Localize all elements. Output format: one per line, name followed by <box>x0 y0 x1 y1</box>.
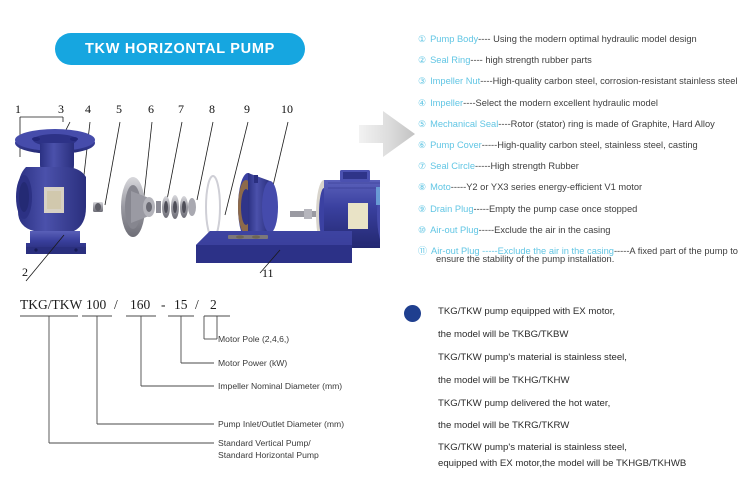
legend-part-name: Impeller Nut <box>430 75 480 87</box>
note-line: TKG/TKW pump delivered the hot water, <box>438 398 610 410</box>
note-line: the model will be TKRG/TKRW <box>438 420 569 432</box>
legend-number: ② <box>418 54 426 66</box>
legend-part-name: Seal Ring <box>430 54 470 66</box>
legend-part-desc: ----Rotor (stator) ring is made of Graph… <box>498 118 714 130</box>
legend-number: ⑤ <box>418 118 426 130</box>
svg-text:/: / <box>195 297 199 312</box>
svg-text:8: 8 <box>209 102 215 116</box>
svg-text:6: 6 <box>148 102 154 116</box>
legend-part-desc: -----Empty the pump case once stopped <box>474 203 638 215</box>
model-label-motor-power: Motor Power (kW) <box>218 358 287 368</box>
note-line: TKG/TKW pump equipped with EX motor, <box>438 306 615 318</box>
legend-item: ① Pump Body ---- Using the modern optima… <box>418 33 754 54</box>
title-banner: TKW HORIZONTAL PUMP <box>55 33 305 65</box>
legend-part-desc: -----Y2 or YX3 series energy-efficient V… <box>451 181 642 193</box>
legend-number: ③ <box>418 75 426 87</box>
svg-text:7: 7 <box>178 102 184 116</box>
legend-number: ① <box>418 33 426 45</box>
svg-text:9: 9 <box>244 102 250 116</box>
svg-text:2: 2 <box>22 265 28 279</box>
legend-number: ⑨ <box>418 203 426 215</box>
svg-text:5: 5 <box>116 102 122 116</box>
model-code-breakdown: TKG/TKW 100 / 160 - 15 / 2 <box>18 296 378 496</box>
legend-item: ② Seal Ring ---- high strength rubber pa… <box>418 54 754 75</box>
note-line: TKG/TKW pump's material is stainless ste… <box>438 442 627 454</box>
legend-part-name: Pump Cover <box>430 139 482 151</box>
svg-text:-: - <box>161 297 166 312</box>
right-arrow-icon <box>357 103 419 165</box>
svg-text:10: 10 <box>281 102 293 116</box>
svg-text:3: 3 <box>58 102 64 116</box>
svg-text:1: 1 <box>15 102 21 116</box>
legend-part-desc: ---- Using the modern optimal hydraulic … <box>478 33 697 45</box>
model-variant-notes: TKG/TKW pump equipped with EX motor, the… <box>396 300 756 490</box>
legend-part-desc: ---- high strength rubber parts <box>470 54 591 66</box>
bullet-dot-icon <box>404 305 421 322</box>
page-root: TKW HORIZONTAL PUMP <box>0 0 756 500</box>
legend-part-name: Moto <box>430 181 451 193</box>
legend-part-name: Seal Circle <box>430 160 475 172</box>
legend-part-name: Mechanical Seal <box>430 118 498 130</box>
legend-part-name: Drain Plug <box>430 203 473 215</box>
model-label-motor-pole: Motor Pole (2,4,6,) <box>218 334 289 344</box>
model-code-prefix: TKG/TKW <box>20 297 82 312</box>
legend-part-desc: -----High strength Rubber <box>475 160 579 172</box>
legend-part-name: Impeller <box>430 97 463 109</box>
model-code-inlet: 100 <box>86 297 107 312</box>
legend-item: ⑦ Seal Circle -----High strength Rubber <box>418 160 754 181</box>
exploded-pump-diagram: 1 3 4 5 6 7 8 9 10 <box>0 95 380 290</box>
legend-number: ⑦ <box>418 160 426 172</box>
note-line: the model will be TKHG/TKHW <box>438 375 570 387</box>
parts-legend: ① Pump Body ---- Using the modern optima… <box>418 33 754 266</box>
legend-item: ⑤ Mechanical Seal ----Rotor (stator) rin… <box>418 118 754 139</box>
legend-part-name: Air-out Plug <box>430 224 479 236</box>
legend-number: ⑥ <box>418 139 426 151</box>
model-code-impeller: 160 <box>130 297 151 312</box>
legend-item: ④ Impeller ----Select the modern excelle… <box>418 97 754 118</box>
note-line: TKG/TKW pump's material is stainless ste… <box>438 352 627 364</box>
legend-number: ⑪ <box>418 245 427 257</box>
legend-item-11-line2: ensure the stability of the pump install… <box>436 254 614 264</box>
legend-item: ⑩ Air-out Plug -----Exclude the air in t… <box>418 224 754 245</box>
legend-part-desc: ----Select the modern excellent hydrauli… <box>463 97 658 109</box>
legend-item: ⑧ Moto -----Y2 or YX3 series energy-effi… <box>418 181 754 202</box>
legend-number: ④ <box>418 97 426 109</box>
model-code-power: 15 <box>174 297 188 312</box>
svg-text:/: / <box>114 297 118 312</box>
model-label-impeller-dia: Impeller Nominal Diameter (mm) <box>218 381 342 391</box>
legend-part-desc: -----Exclude the air in the casing <box>479 224 611 236</box>
model-code-pole: 2 <box>210 297 217 312</box>
model-label-inlet-dia: Pump Inlet/Outlet Diameter (mm) <box>218 419 344 429</box>
legend-number: ⑩ <box>418 224 426 236</box>
legend-part-desc: -----High-quality carbon steel, stainles… <box>482 139 698 151</box>
svg-text:11: 11 <box>262 266 274 280</box>
page-title: TKW HORIZONTAL PUMP <box>85 41 275 57</box>
legend-part-desc: -----A fixed part of the pump to <box>614 245 738 257</box>
note-line: equipped with EX motor,the model will be… <box>438 458 686 470</box>
svg-text:4: 4 <box>85 102 91 116</box>
model-label-std-vertical: Standard Vertical Pump/ <box>218 438 311 448</box>
legend-item: ③ Impeller Nut ----High-quality carbon s… <box>418 75 754 96</box>
legend-item: ⑨ Drain Plug -----Empty the pump case on… <box>418 203 754 224</box>
note-line: the model will be TKBG/TKBW <box>438 329 568 341</box>
legend-item: ⑥ Pump Cover -----High-quality carbon st… <box>418 139 754 160</box>
legend-part-desc: ----High-quality carbon steel, corrosion… <box>480 75 737 87</box>
model-label-std-horizontal: Standard Horizontal Pump <box>218 450 319 460</box>
legend-number: ⑧ <box>418 181 426 193</box>
legend-part-name: Pump Body <box>430 33 478 45</box>
